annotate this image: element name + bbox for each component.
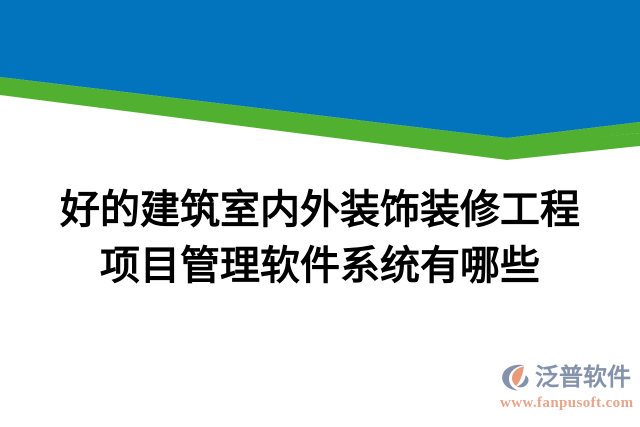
page-title-line-1: 好的建筑室内外装饰装修工程	[0, 182, 640, 238]
decorative-header-banner	[0, 0, 640, 160]
brand-name-cn: 泛普软件	[535, 362, 631, 392]
banner-green-stripe	[0, 77, 640, 160]
page-title: 好的建筑室内外装饰装修工程 项目管理软件系统有哪些	[0, 182, 640, 294]
brand-logo: 泛普软件 www.fanpusoft.com	[500, 361, 632, 415]
page-title-line-2: 项目管理软件系统有哪些	[0, 238, 640, 294]
banner-green-edge	[0, 77, 640, 147]
fanpu-swoosh-icon	[500, 362, 532, 392]
brand-logo-row: 泛普软件	[500, 361, 632, 393]
brand-website-url: www.fanpusoft.com	[500, 394, 632, 412]
banner-blue-shape	[0, 0, 640, 138]
slide-root: 好的建筑室内外装饰装修工程 项目管理软件系统有哪些 泛普软件 www.fanpu…	[0, 0, 640, 427]
